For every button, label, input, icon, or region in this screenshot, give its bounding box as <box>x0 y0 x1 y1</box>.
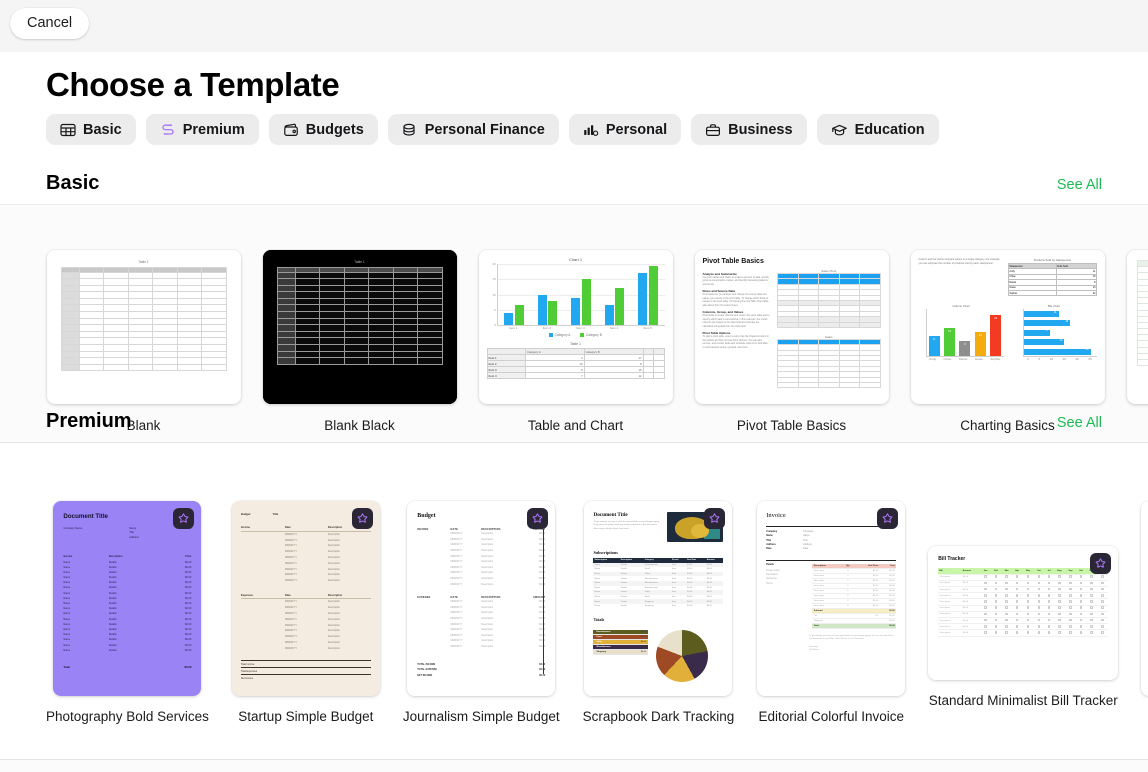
total-label: Total <box>63 665 69 669</box>
x-tick: Sophia <box>990 357 999 361</box>
bar-chart: Bar Chart 11 15 8 13 22 0510152025 <box>1012 304 1097 361</box>
legend-label: Category A <box>555 333 571 337</box>
template-name: Startup Simple Budget <box>238 709 373 724</box>
wallet-icon <box>283 123 299 137</box>
coins-icon <box>402 123 418 137</box>
cell: 12 <box>584 373 643 379</box>
tab-label: Basic <box>83 122 122 138</box>
para-body: Pivot tables let you analyze and change … <box>703 293 771 307</box>
doc-title: Document Title <box>593 512 661 518</box>
template-card-charting-basics[interactable]: Column and bar charts compare values in … <box>910 250 1105 433</box>
thumbnail-scrapbook-dark-tracking: Document Title To get started, just tap … <box>584 501 732 696</box>
tab-label: Premium <box>183 122 245 138</box>
para-body: Pivot fields to create columns and rows … <box>703 314 771 328</box>
cancel-button[interactable]: Cancel <box>10 8 89 39</box>
template-name: Photography Bold Services <box>46 709 209 724</box>
cell: Description <box>481 532 525 535</box>
template-card-pivot-table-basics[interactable]: Pivot Table Basics Analyze and Summarize… <box>694 250 889 433</box>
totals-label: Totals <box>593 617 723 622</box>
intro-paragraph: To get started, just tap or click this p… <box>593 521 661 531</box>
template-name: Standard Minimalist Bill Tracker <box>929 693 1118 708</box>
section-label: INCOME <box>417 528 450 531</box>
total-label: NET INCOME <box>417 674 432 677</box>
subscriptions-table: Subscription Description Category Period… <box>593 558 723 609</box>
total-label: Total <box>812 624 841 629</box>
pivot-table-2 <box>777 339 880 389</box>
template-name: Editorial Colorful Invoice <box>758 709 904 724</box>
details-label: Details <box>766 564 805 566</box>
x-tick: Daniel <box>959 357 968 361</box>
doc-title: Pivot Table Basics <box>703 258 881 265</box>
legend-label: Category B <box>586 333 602 337</box>
invoice-document: Invoice Company Name Title Address Date … <box>757 501 905 696</box>
cream-document: Budget Title IncomeDateDescription MM/DD… <box>232 501 380 696</box>
thumbnail-startup-simple-budget: Budget Title IncomeDateDescription MM/DD… <box>232 501 380 696</box>
x-tick: 20 <box>1075 357 1078 361</box>
tab-personal[interactable]: Personal <box>569 114 681 145</box>
meta-label: Date <box>766 547 777 551</box>
table-icon <box>60 123 76 137</box>
x-tick: Andy <box>929 357 936 361</box>
bar-value: 11 <box>929 338 940 341</box>
blank-grid <box>61 267 227 371</box>
bar-value: 13 <box>975 334 986 337</box>
legend-label: Food <box>595 636 602 638</box>
premium-badge <box>877 508 898 529</box>
cell: MM/DD/YY <box>451 532 482 535</box>
bar-value: 15 <box>1065 320 1068 323</box>
template-card-journalism-simple-budget[interactable]: Budget INCOMEDATEDESCRIPTIONAMOUNT MM/DD… <box>403 501 560 724</box>
bill-table: Bill Amount Jan Feb Mar Apr May Jun Jul … <box>938 568 1108 637</box>
pie-legend: Entertainment$0.00 Food$0.00 Utility$0.0… <box>593 630 648 656</box>
bar-value: 22 <box>1086 348 1089 351</box>
section-label: Subscriptions <box>593 550 723 555</box>
bar-value: 13 <box>1059 339 1062 342</box>
thumbnail-charting-basics: Column and bar charts compare values in … <box>911 250 1105 404</box>
doc-title: Budget <box>241 512 251 516</box>
chart-title: Column Chart <box>919 304 1004 308</box>
premium-template-row: Document Title Company Name Name Title A… <box>46 501 1148 724</box>
doc-title: Document Title <box>63 513 191 520</box>
bar-value: 8 <box>959 343 970 346</box>
legend-value: $0.00 <box>641 646 646 648</box>
total-label: TOTAL EXPENSE <box>417 668 437 671</box>
legend-label: Utility <box>595 641 603 643</box>
tab-label: Personal Finance <box>425 122 545 138</box>
premium-badge <box>704 508 725 529</box>
tab-label: Business <box>728 122 792 138</box>
legend-label: Shopping <box>595 651 607 653</box>
purple-document: Document Title Company Name Name Title A… <box>53 501 201 696</box>
community-document: Community 2020 Placeholder paragraph tex… <box>1141 501 1148 696</box>
tab-business[interactable]: Business <box>691 114 806 145</box>
tab-basic[interactable]: Basic <box>46 114 136 145</box>
chart-title: Chart 1 <box>487 257 665 262</box>
bar-chart-plot: 20 15 10 5 0 <box>497 264 665 326</box>
basic-template-row: Table 1 <box>46 250 1148 433</box>
cell: Description <box>328 533 371 536</box>
template-name: Journalism Simple Budget <box>403 709 560 724</box>
thumbnail-blank-black: Table 1 <box>263 250 457 404</box>
cell: Name <box>63 561 105 564</box>
bar-value: 22 <box>990 317 1001 320</box>
template-card-table-and-chart[interactable]: Chart 1 20 15 10 5 0 <box>478 250 673 433</box>
chart-title: Bar Chart <box>1012 304 1097 308</box>
total-label: Total Income <box>241 663 255 666</box>
thumbnail-standard-minimalist-bill-tracker: Bill Tracker Bill Amount Jan Feb Mar Apr… <box>928 546 1118 680</box>
tab-budgets[interactable]: Budgets <box>269 114 378 145</box>
thumbnail-journalism-simple-budget: Budget INCOMEDATEDESCRIPTIONAMOUNT MM/DD… <box>407 501 555 696</box>
premium-badge <box>352 508 373 529</box>
category-tabs: Basic Premium <box>46 114 939 145</box>
section-header-basic: Basic See All <box>46 172 1102 195</box>
total-value: $0.00 <box>880 624 896 629</box>
legend-label: Miscellaneous <box>595 646 611 648</box>
signoff-line: Full Name <box>809 649 896 652</box>
sheet-table-title: Table 1 <box>277 260 443 264</box>
total-label: Net Income <box>241 677 253 680</box>
x-tick: Item 1 <box>509 326 517 330</box>
total-label: Total Expenses <box>241 670 257 673</box>
see-all-basic-link[interactable]: See All <box>1057 177 1102 193</box>
x-tick: 15 <box>1063 357 1066 361</box>
section-title: Basic <box>46 172 99 195</box>
doc-title: Budget <box>417 513 545 519</box>
legend-value: $0.00 <box>641 631 646 633</box>
template-card-startup-simple-budget[interactable]: Budget Title IncomeDateDescription MM/DD… <box>232 501 380 724</box>
sheet-table-title: Table 1 <box>61 260 227 264</box>
x-tick: Item 4 <box>610 326 618 330</box>
bar-value: 11 <box>1054 311 1057 314</box>
cell: 22 <box>1056 290 1096 295</box>
mini-table-title: Table 1 <box>487 342 665 346</box>
section-label: Expenses <box>241 594 285 597</box>
graduation-cap-icon <box>831 123 848 137</box>
footer-strip <box>0 760 1148 772</box>
legend-value: $0.00 <box>641 636 646 638</box>
x-tick: Item 3 <box>576 326 584 330</box>
x-tick: Item 5 <box>644 326 652 330</box>
template-card-blank[interactable]: Table 1 <box>46 250 241 433</box>
see-all-premium-link[interactable]: See All <box>1057 415 1102 431</box>
pivot-table-1 <box>777 273 880 328</box>
thumbnail-photography-bold-services: Document Title Company Name Name Title A… <box>53 501 201 696</box>
tab-label: Budgets <box>306 122 364 138</box>
services-list: Service Description Price NameDetails$0.… <box>63 554 191 653</box>
thumbnail-pivot-table-basics: Pivot Table Basics Analyze and Summarize… <box>695 250 889 404</box>
col-header: Date <box>285 594 328 597</box>
col-header: DATE <box>451 596 482 599</box>
para-body: To start a pivot table, select a cell or… <box>703 335 771 349</box>
scrapbook-document: Document Title To get started, just tap … <box>584 501 732 696</box>
footer-note: To get started, you may click this place… <box>809 635 896 642</box>
thumbnail-community-partial: Community 2020 Placeholder paragraph tex… <box>1141 501 1148 696</box>
company-name: Company Name <box>63 527 82 540</box>
section-title: Premium <box>46 410 132 433</box>
blank-sheet: Table 1 <box>47 250 241 404</box>
premium-badge <box>173 508 194 529</box>
template-name: Scrapbook Dark Tracking <box>583 709 735 724</box>
salesperson-table: SalespersonUnits Sold Andy11 Chloe15 Dan… <box>1008 263 1096 296</box>
doc-title: Bill Tracker <box>938 556 1108 562</box>
x-tick: 5 <box>1038 357 1040 361</box>
thumbnail-blank: Table 1 <box>47 250 241 404</box>
cell: $0.00 <box>163 561 191 564</box>
template-card-photography-bold-services[interactable]: Document Title Company Name Name Title A… <box>46 501 209 724</box>
col-header: Service <box>63 555 105 558</box>
x-tick: 25 <box>1088 357 1091 361</box>
table-caption: Products Sold by Salesperson <box>1008 258 1096 262</box>
thumbnail-partial <box>1127 250 1148 404</box>
tab-label: Personal <box>606 122 667 138</box>
row-header: Item 4 <box>487 373 526 379</box>
bar-groups <box>498 264 665 325</box>
col-header: Price <box>163 555 191 558</box>
premium-ribbon-icon <box>160 123 176 137</box>
col-header: Description <box>328 594 371 597</box>
partial-grid <box>1137 260 1148 366</box>
x-tick: 10 <box>1050 357 1053 361</box>
col-header: DESCRIPTION <box>481 596 525 599</box>
total-label: TOTAL INCOME <box>417 663 435 666</box>
cell: 7 <box>526 373 585 379</box>
charting-preview: Column and bar charts compare values in … <box>911 250 1105 404</box>
briefcase-icon <box>705 123 721 137</box>
column-chart: Column Chart 11 15 8 13 22 Andy <box>919 304 1004 361</box>
blank-black-sheet: Table 1 <box>263 250 457 404</box>
cell: MM/DD/YY <box>285 533 328 536</box>
pivot-preview: Pivot Table Basics Analyze and Summarize… <box>695 250 889 404</box>
mini-table: Table 1 Category A Category B Item 1 4 1… <box>487 342 665 379</box>
para-body: Use pivot tables and charts to analyze a… <box>703 276 771 286</box>
doc-subtitle: Title <box>272 512 278 516</box>
x-axis-labels: Item 1 Item 2 Item 3 Item 4 Item 5 <box>497 326 665 330</box>
cell: Details <box>109 561 160 564</box>
tab-education[interactable]: Education <box>817 114 939 145</box>
blank-black-grid <box>277 267 443 365</box>
vertical-rule <box>543 529 544 674</box>
template-card-editorial-colorful-invoice[interactable]: Invoice Company Name Title Address Date … <box>757 501 905 724</box>
template-chooser-window: Cancel Choose a Template Basic <box>0 0 1148 772</box>
section-label: EXPENSE <box>417 596 450 599</box>
thumbnail-editorial-colorful-invoice: Invoice Company Name Title Address Date … <box>757 501 905 696</box>
section-label: Income <box>241 526 285 529</box>
template-card-blank-black[interactable]: Table 1 <box>262 250 457 433</box>
x-tick: Item 2 <box>543 326 551 330</box>
tab-personal-finance[interactable]: Personal Finance <box>388 114 559 145</box>
bar-chart-icon <box>583 123 599 137</box>
legend-value: $0.00 <box>641 651 646 653</box>
premium-badge <box>1090 553 1111 574</box>
page-title: Choose a Template <box>46 66 339 104</box>
chart-legend: Category A Category B <box>487 333 665 337</box>
col-header: DESCRIPTION <box>481 528 525 531</box>
table-chart-preview: Chart 1 20 15 10 5 0 <box>479 250 673 404</box>
x-tick: 0 <box>1027 357 1029 361</box>
legend-label: Entertainment <box>595 631 611 633</box>
bar-value: 8 <box>1046 329 1047 332</box>
x-tick: Grace <box>975 357 983 361</box>
section-header-premium: Premium See All <box>46 410 1102 433</box>
intro-paragraph: Column and bar charts compare values in … <box>919 258 1001 296</box>
pie-chart <box>656 630 708 682</box>
section-premium: Premium See All Document Title Company N… <box>0 443 1148 760</box>
col-header: Date <box>285 526 328 529</box>
template-card-partial[interactable] <box>1126 250 1148 404</box>
col-header: DATE <box>451 528 482 531</box>
invoice-table: Description Qty Unit Price Cost Item nam… <box>812 564 896 630</box>
premium-badge <box>527 508 548 529</box>
meta-value: Date <box>803 547 813 551</box>
white-document: Budget INCOMEDATEDESCRIPTIONAMOUNT MM/DD… <box>407 501 555 696</box>
bar-value: 15 <box>944 330 955 333</box>
pivot-text-column: Analyze and Summarize Use pivot tables a… <box>703 269 771 388</box>
tab-premium[interactable]: Premium <box>146 114 259 145</box>
total-value: $0.00 <box>184 665 191 669</box>
legend-value: $0.00 <box>641 641 646 643</box>
template-card-scrapbook-dark-tracking[interactable]: Document Title To get started, just tap … <box>583 501 735 724</box>
detail-line: Terms <box>766 582 805 586</box>
col-header: Description <box>109 555 160 558</box>
thumbnail-table-and-chart: Chart 1 20 15 10 5 0 <box>479 250 673 404</box>
template-card-standard-minimalist-bill-tracker[interactable]: Bill Tracker Bill Amount Jan Feb Mar Apr… <box>928 546 1118 708</box>
tab-label: Education <box>855 122 925 138</box>
section-basic: Basic See All Table 1 <box>0 204 1148 443</box>
cell: Sophia <box>1009 290 1057 295</box>
top-bar: Cancel <box>0 0 1148 52</box>
x-tick: Chloe <box>944 357 952 361</box>
meta-address: Address <box>129 536 139 540</box>
template-card-community-partial[interactable]: Community 2020 Placeholder paragraph tex… <box>1141 501 1148 724</box>
